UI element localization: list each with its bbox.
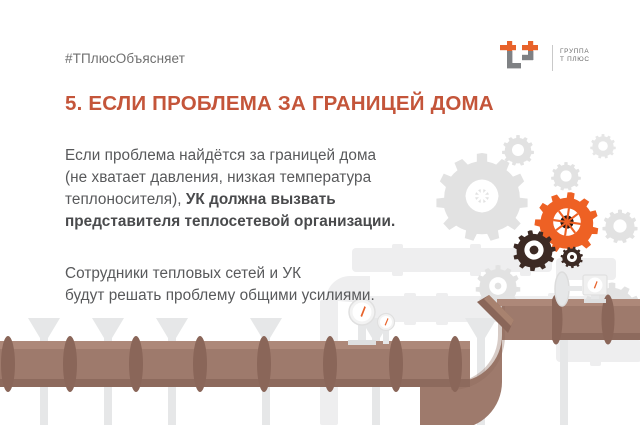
para1-line2: (не хватает давления, низкая температура	[65, 169, 371, 186]
para2-line1: Сотрудники тепловых сетей и УК	[65, 265, 301, 282]
para1-line4-bold: представителя теплосетевой организации.	[65, 213, 395, 230]
body-paragraph-2: Сотрудники тепловых сетей и УК будут реш…	[65, 263, 375, 307]
para1-line3-plain: теплоносителя),	[65, 191, 186, 208]
para1-line1: Если проблема найдётся за границей дома	[65, 147, 376, 164]
body-paragraph-1: Если проблема найдётся за границей дома …	[65, 145, 395, 233]
logo-line-2: Т ПЛЮС	[560, 56, 590, 64]
para1-line3-bold: УК должна вызвать	[186, 191, 336, 208]
hashtag-label: #ТПлюсОбъясняет	[65, 51, 185, 66]
t-plus-logo-mark-icon	[497, 41, 543, 75]
infographic-slide: #ТПлюсОбъясняет ГРУППА Т ПЛЮС 5.	[0, 0, 640, 425]
logo-line-1: ГРУППА	[560, 48, 590, 56]
brand-logo[interactable]: ГРУППА Т ПЛЮС	[497, 41, 607, 77]
logo-wordmark: ГРУППА Т ПЛЮС	[560, 48, 590, 64]
para2-line2: будут решать проблему общими усилиями.	[65, 287, 375, 304]
logo-divider	[552, 45, 553, 71]
page-title: 5. ЕСЛИ ПРОБЛЕМА ЗА ГРАНИЦЕЙ ДОМА	[65, 92, 494, 116]
